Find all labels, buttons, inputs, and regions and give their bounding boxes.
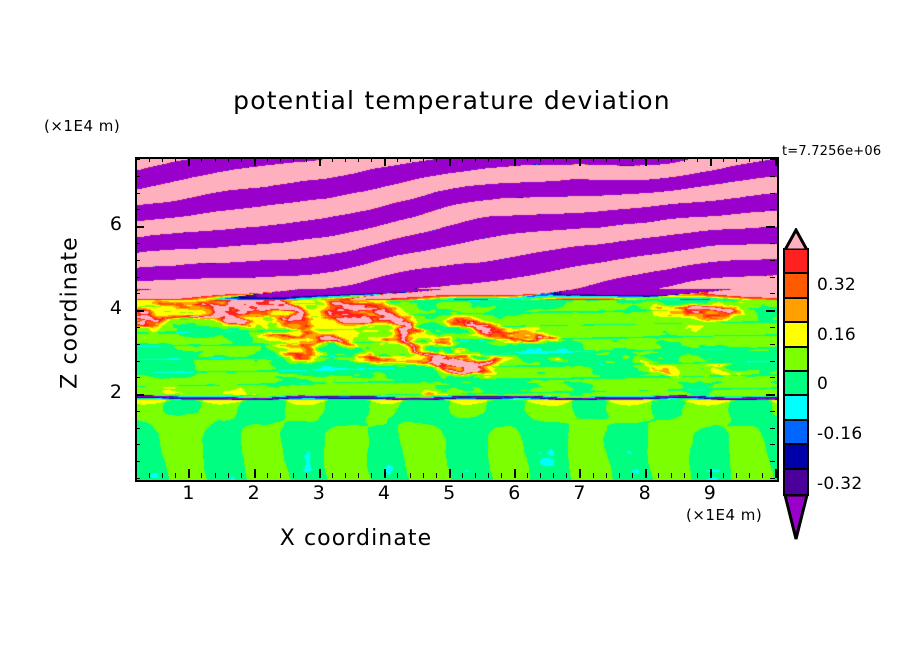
x-axis-tick-label: 6 bbox=[494, 482, 534, 504]
x-axis-tick-label: 3 bbox=[299, 482, 339, 504]
colorbar-tick-label: -0.32 bbox=[817, 474, 863, 494]
x-axis-tick-label: 4 bbox=[364, 482, 404, 504]
colorbar-tick-label: 0.16 bbox=[817, 325, 856, 345]
x-axis-tick-label: 9 bbox=[690, 482, 730, 504]
y-axis-tick-label: 4 bbox=[96, 297, 122, 319]
x-axis-tick-label: 2 bbox=[234, 482, 274, 504]
x-axis-tick-label: 5 bbox=[429, 482, 469, 504]
x-axis-tick-label: 1 bbox=[168, 482, 208, 504]
colorbar-tick-label: 0 bbox=[817, 374, 828, 394]
colorbar-labels: 0.320.160-0.16-0.32 bbox=[783, 228, 903, 525]
axis-labels-layer: 123456789246 bbox=[0, 0, 904, 654]
x-axis-tick-label: 8 bbox=[625, 482, 665, 504]
x-axis-tick-label: 7 bbox=[559, 482, 599, 504]
y-axis-tick-label: 2 bbox=[96, 381, 122, 403]
y-axis-tick-label: 6 bbox=[96, 213, 122, 235]
colorbar-tick-label: 0.32 bbox=[817, 275, 856, 295]
colorbar-tick-label: -0.16 bbox=[817, 424, 863, 444]
